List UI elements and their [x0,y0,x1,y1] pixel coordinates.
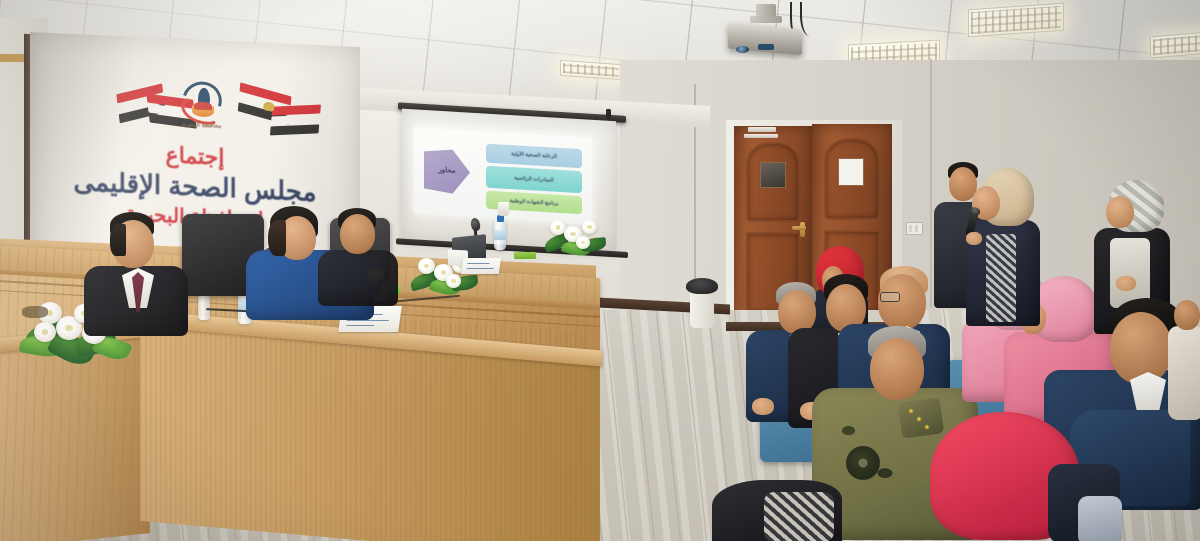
conference-room-photo: محافظة البحيرة إجتماع مجلس الصحة الإقليم… [0,0,1200,541]
slide-bar-label: الرعاية الصحية الأولية [511,151,557,160]
projector-mount-arm [750,16,782,23]
eyeglasses [880,292,900,302]
logo-caption: محافظة البحيرة [176,121,228,130]
speaker-woman-with-microphone [966,168,1048,328]
attendee-foreground-partial [712,470,852,541]
slide-arrow-label: محاور [438,166,455,176]
attendee-partial-right-edge [1168,300,1200,420]
door-sign-left [760,162,786,188]
hair-side [110,224,126,256]
slide-arrow-shape: محاور [424,148,470,195]
projector-port [758,44,774,50]
banner-line-2: مجلس الصحة الإقليمى [30,164,360,210]
patterned-blouse [986,234,1016,322]
door-handle-lever[interactable] [792,226,806,230]
door-sign-right [838,158,864,186]
green-folder-2 [514,252,536,259]
projector-lens [736,46,749,53]
trash-bin-lid [686,278,718,294]
flower-bouquet-right [542,214,622,270]
bag-or-garment [1078,496,1122,541]
slide-bar-blue: الرعاية الصحية الأولية [486,144,582,169]
paper-cup [498,202,509,216]
door-closer-plate [748,127,776,132]
water-bottle-2 [494,214,506,250]
hair-side [268,220,286,256]
door-closer-arm [744,134,778,138]
trash-bin [690,288,714,328]
slide-bar-label: المبادرات الرئاسية [514,175,553,184]
projector-cable [800,2,816,36]
banner-line-1: إجتماع [30,136,360,177]
attendee-woman-crimson-hijab [930,412,1120,541]
name-placard-2 [461,258,501,274]
panelist-man-dark-suit [84,212,194,332]
panelist-man-background [318,208,404,304]
egyptian-flag-ribbon [236,84,322,140]
wall-switch-plate[interactable] [906,222,923,235]
slide-bar-cyan: المبادرات الرئاسية [486,166,582,194]
ceiling-light-panel [1150,31,1200,58]
patch-emblem [854,454,872,472]
governorate-logo: محافظة البحيرة [176,79,228,137]
slide-bar-label: برنامج الشهادة الوطنية [510,198,559,207]
screen-mount-hook [606,109,611,119]
patterned-garment [764,492,834,541]
egyptian-flag-ribbon [116,83,197,133]
